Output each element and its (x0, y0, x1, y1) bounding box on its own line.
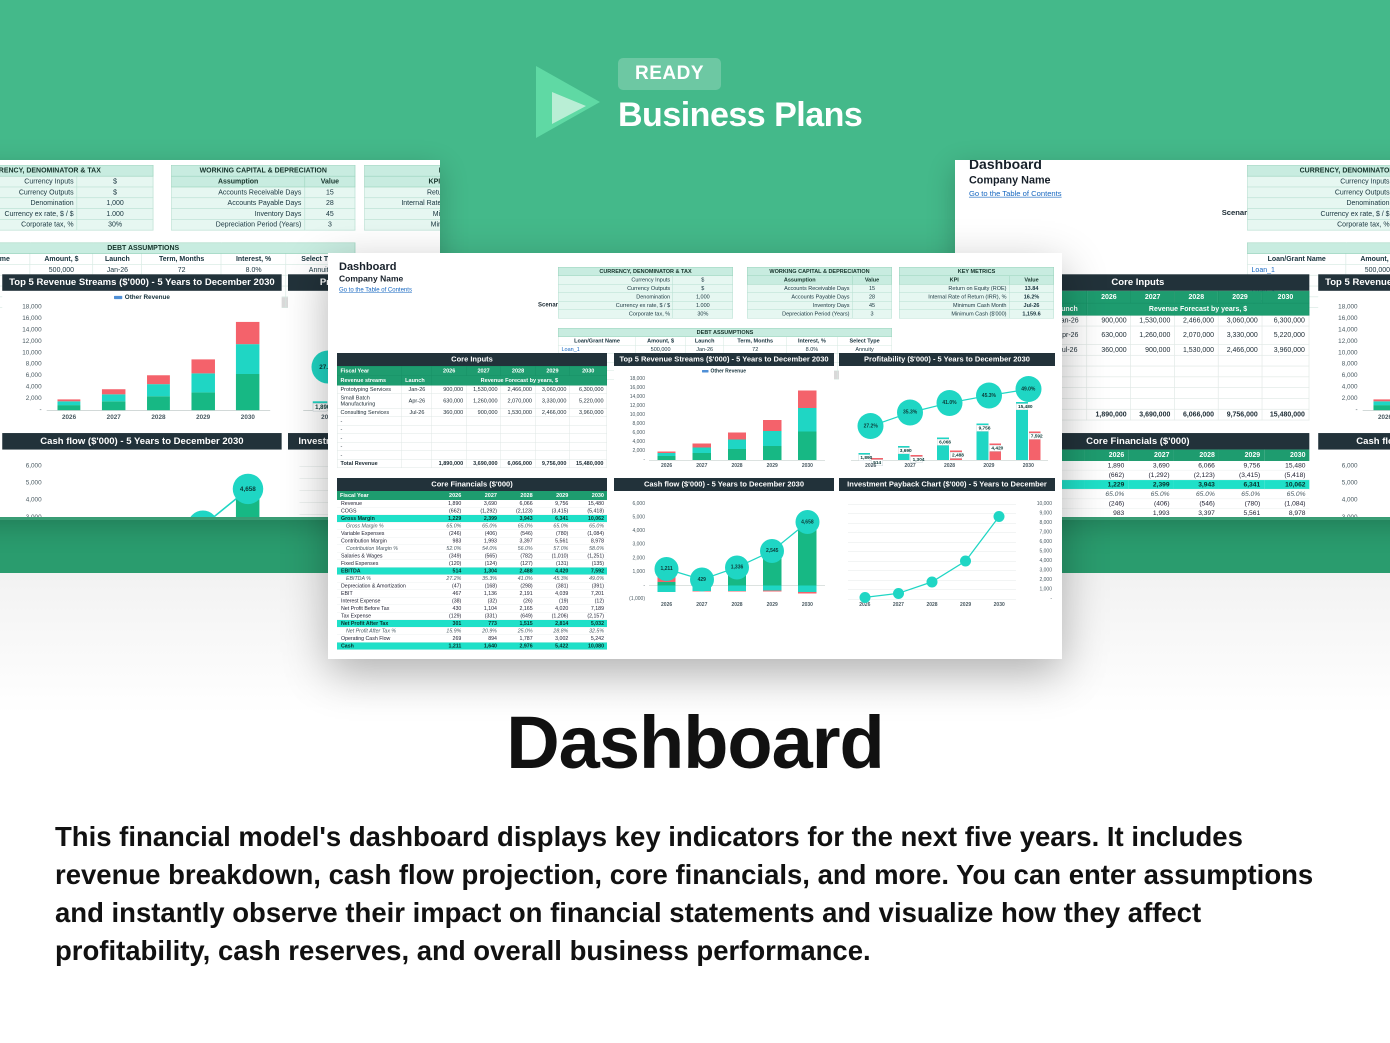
cf-value-4-0: (246) (430, 530, 464, 538)
stream-value-4-0[interactable] (1087, 366, 1131, 377)
stream-value-3-0[interactable] (432, 417, 466, 426)
debt-col-2: Launch (685, 337, 724, 346)
stream-value-5-1[interactable] (1131, 377, 1175, 388)
currency-row: Denomination 1,000 (558, 293, 733, 302)
stream-value-0-3[interactable]: 3,060,000 (535, 385, 569, 394)
stream-value-6-0[interactable] (1087, 388, 1131, 399)
stream-value-4-2[interactable] (501, 425, 535, 434)
cf-value-15-1: (331) (464, 612, 500, 620)
stream-value-5-3[interactable] (535, 434, 569, 443)
stream-value-6-2[interactable] (1174, 388, 1218, 399)
total-revenue-label: Total Revenue (337, 459, 402, 468)
currency-label-3: Currency ex rate, $ / $ (558, 301, 673, 310)
ytick-1: 16,000 (1318, 315, 1357, 322)
wc-label-3: Depreciation Period (Years) (171, 219, 304, 230)
core-inputs-year-3: 2029 (535, 366, 569, 376)
currency-label-3: Currency ex rate, $ / $ (0, 209, 77, 220)
debt-col-1: Amount, $ (636, 337, 686, 346)
stream-launch-7[interactable] (402, 451, 432, 460)
cash-flow-title: Cash flow ($'000) - 5 Years to December … (1318, 433, 1390, 450)
cf-value-8-2: (127) (500, 560, 536, 568)
key-metrics-row: Internal Rate of Return (IRR), % 16.2% (365, 198, 440, 209)
stream-value-2-2[interactable]: 1,530,000 (501, 408, 535, 417)
revenue-streams-bar-3-2 (763, 420, 781, 431)
stream-value-4-2[interactable] (1174, 366, 1218, 377)
stream-value-3-1[interactable] (1131, 355, 1175, 366)
stream-value-5-4[interactable] (570, 434, 607, 443)
stream-value-6-4[interactable] (570, 442, 607, 451)
ytick-4: 10,000 (614, 412, 645, 418)
stream-value-0-0[interactable]: 900,000 (1087, 315, 1131, 326)
ytick-8: 2,000 (614, 448, 645, 454)
ytick-9: - (2, 406, 41, 413)
debt-col-3: Term, Months (142, 254, 221, 265)
cash-flow-bar-4-2 (798, 592, 816, 594)
km-label-2: Minimum Cash Month (365, 209, 440, 220)
core-inputs-year-2: 2028 (1174, 291, 1218, 303)
cf-value-3-3: 65.0% (536, 522, 572, 530)
debt-header: DEBT ASSUMPTIONS (0, 243, 355, 254)
cf-value-19-4: 10,080 (571, 642, 607, 650)
stream-value-3-3[interactable] (535, 417, 569, 426)
revenue-streams-title: Top 5 Revenue Streams ($'000) - 5 Years … (2, 274, 281, 291)
key-metrics-row: Return on Equity (ROE) 13.84 (365, 187, 440, 198)
core-financials-section: Core Financials ($'000)Fiscal Year202620… (337, 478, 607, 650)
ytick-5: 8,000 (1318, 361, 1357, 368)
revenue-streams-bar-1-0 (693, 453, 711, 460)
currency-label-0: Currency Inputs (0, 176, 77, 187)
stream-value-5-3[interactable] (1218, 377, 1262, 388)
stream-value-3-1[interactable] (466, 417, 500, 426)
stream-value-2-3[interactable]: 2,466,000 (535, 408, 569, 417)
cf-year-2: 2028 (1173, 450, 1218, 461)
stream-value-2-4[interactable]: 3,960,000 (1262, 344, 1309, 355)
wc-label-1: Accounts Payable Days (171, 198, 304, 209)
stream-value-2-0[interactable]: 360,000 (1087, 344, 1131, 355)
revenue-streams-zero-axis (1363, 410, 1390, 411)
cf-value-5-2: 3,397 (1173, 508, 1218, 517)
currency-row: Currency ex rate, $ / $ 1.000 (0, 209, 153, 220)
stream-name-2[interactable]: Consulting Services (337, 408, 402, 417)
total-revenue-0: 1,890,000 (432, 459, 466, 468)
cf-value-0-4: 15,480 (1264, 461, 1309, 470)
cf-value-8-3: (131) (536, 560, 572, 568)
cf-label-11: Depreciation & Amortization (337, 582, 430, 590)
stream-value-4-3[interactable] (1218, 366, 1262, 377)
stream-value-0-1[interactable]: 1,530,000 (466, 385, 500, 394)
currency-value-2[interactable]: 1,000 (77, 198, 153, 209)
stream-name-4[interactable]: - (337, 425, 402, 434)
revenue-streams-title: Top 5 Revenue Streams ($'000) - 5 Years … (1318, 274, 1390, 291)
cf-value-3-3: 65.0% (1219, 489, 1264, 499)
currency-value-3[interactable]: 1.000 (77, 209, 153, 220)
total-revenue-4: 15,480,000 (1262, 409, 1309, 420)
ytick-3: 3,000 (2, 514, 41, 517)
stream-name-5[interactable]: - (337, 434, 402, 443)
core-inputs-row: Prototyping Services Jan-26900,0001,530,… (337, 385, 607, 394)
ytick-9: - (1318, 406, 1357, 413)
debt-col-3: Term, Months (724, 337, 786, 346)
wc-value-1[interactable]: 28 (852, 293, 892, 302)
stream-value-6-1[interactable] (466, 442, 500, 451)
stream-value-3-4[interactable] (570, 417, 607, 426)
stream-value-4-1[interactable] (1131, 366, 1175, 377)
cf-value-12-0: 467 (430, 590, 464, 598)
cf-value-5-3: 5,561 (536, 537, 572, 545)
revenue-streams-title: Top 5 Revenue Streams ($'000) - 5 Years … (614, 353, 834, 366)
stream-launch-6[interactable] (402, 442, 432, 451)
stream-launch-0[interactable]: Jan-26 (402, 385, 432, 394)
cf-label-12: EBIT (337, 590, 430, 598)
core-inputs-total-row: Total Revenue1,890,0003,690,0006,066,000… (337, 459, 607, 468)
stream-launch-1[interactable]: Apr-26 (402, 394, 432, 409)
revenue-streams-bar-4-1 (236, 344, 259, 374)
core-inputs-row: Consulting Services Jul-26360,000900,000… (337, 408, 607, 417)
cf-value-13-1: (32) (464, 597, 500, 605)
debt-col-5: Select Type (837, 337, 891, 346)
table-of-contents-link[interactable]: Go to the Table of Contents (969, 189, 1062, 198)
stream-value-7-3[interactable] (535, 451, 569, 460)
key-metrics-header: KEY METRICS (365, 165, 440, 176)
stream-value-0-1[interactable]: 1,530,000 (1131, 315, 1175, 326)
core-financials-row: Contribution Margin9831,9933,3975,5618,9… (337, 537, 607, 545)
cash-flow-point-3: 2,545 (188, 510, 218, 517)
ytick-4: 10,000 (2, 349, 41, 356)
wc-label-3: Depreciation Period (Years) (747, 310, 852, 319)
table-of-contents-link[interactable]: Go to the Table of Contents (339, 286, 412, 293)
cash-flow-xlabel-2: 2028 (722, 602, 752, 608)
stream-value-7-2[interactable] (1174, 398, 1218, 409)
ytick-4: 2,000 (614, 555, 645, 561)
stream-value-5-0[interactable] (432, 434, 466, 443)
core-financials-row: Contribution Margin %52.0%54.0%56.0%57.0… (337, 545, 607, 553)
stream-value-1-4[interactable]: 5,220,000 (570, 394, 607, 409)
stream-value-6-1[interactable] (1131, 388, 1175, 399)
currency-value-4[interactable]: 30% (673, 310, 733, 319)
cf-label-9: EBITDA (337, 567, 430, 575)
currency-label-0: Currency Inputs (1247, 176, 1390, 187)
cf-value-3-2: 65.0% (500, 522, 536, 530)
stream-name-1[interactable]: Small Batch Manufacturing (337, 394, 402, 409)
currency-label-1: Currency Outputs (0, 187, 77, 198)
stream-value-4-1[interactable] (466, 425, 500, 434)
page-paragraph: This financial model's dashboard display… (55, 818, 1340, 970)
revenue-streams-bar-0-0 (57, 405, 80, 410)
km-value-3: 1,159.6 (1009, 310, 1054, 319)
screenshot-card-main[interactable]: DashboardCompany NameGo to the Table of … (328, 253, 1062, 659)
profitability-point-3: 45.3% (976, 383, 1002, 409)
ytick-2: 14,000 (2, 326, 41, 333)
stream-value-2-4[interactable]: 3,960,000 (570, 408, 607, 417)
cf-value-2-0: 1,229 (430, 515, 464, 523)
revenue-streams-xlabel-2: 2028 (139, 414, 177, 421)
cf-value-7-2: (782) (500, 552, 536, 560)
stream-value-1-2[interactable]: 2,070,000 (1174, 326, 1218, 344)
cf-label-1: COGS (337, 507, 430, 515)
core-financials-table: Fiscal Year20262027202820292030 Revenue1… (337, 491, 607, 650)
stream-name-3[interactable]: - (337, 417, 402, 426)
stream-value-1-0[interactable]: 630,000 (432, 394, 466, 409)
cf-year-3: 2029 (1219, 450, 1264, 461)
revenue-streams-bar-2-1 (147, 384, 170, 396)
stream-name-6[interactable]: - (337, 442, 402, 451)
cf-value-6-1: 54.0% (464, 545, 500, 553)
stream-value-5-1[interactable] (466, 434, 500, 443)
stream-value-0-0[interactable]: 900,000 (432, 385, 466, 394)
ytick-2: 4,000 (1318, 497, 1357, 504)
stream-value-4-0[interactable] (432, 425, 466, 434)
wc-label-0: Accounts Receivable Days (171, 187, 304, 198)
stream-value-7-2[interactable] (501, 451, 535, 460)
wc-col-assumption: Assumption (171, 176, 304, 187)
cf-value-18-3: 3,002 (536, 635, 572, 643)
stream-value-7-4[interactable] (1262, 398, 1309, 409)
stream-value-2-3[interactable]: 2,466,000 (1218, 344, 1262, 355)
ytick-2: 14,000 (1318, 326, 1357, 333)
stream-value-1-4[interactable]: 5,220,000 (1262, 326, 1309, 344)
core-inputs-header: Core Inputs (337, 353, 607, 366)
core-inputs-section: Core InputsFiscal Year202620272028202920… (337, 353, 607, 468)
core-inputs-row: - (337, 425, 607, 434)
cf-value-2-3: 6,341 (1219, 480, 1264, 490)
revenue-streams-xlabel-0: 2026 (652, 463, 682, 469)
cf-value-10-2: 41.0% (500, 575, 536, 583)
currency-label-4: Corporate tax, % (0, 219, 77, 230)
cf-value-2-1: 2,399 (1128, 480, 1173, 490)
stream-value-1-1[interactable]: 1,260,000 (1131, 326, 1175, 344)
stream-value-0-3[interactable]: 3,060,000 (1218, 315, 1262, 326)
core-financials-row: Net Profit After Tax3017731,5152,8145,03… (337, 620, 607, 628)
wc-col-assumption: Assumption (747, 276, 852, 285)
cf-value-2-1: 2,399 (464, 515, 500, 523)
stream-value-1-3[interactable]: 3,330,000 (535, 394, 569, 409)
cf-value-1-4: (5,418) (571, 507, 607, 515)
stream-value-6-4[interactable] (1262, 388, 1309, 399)
core-inputs-table: Fiscal Year20262027202820292030Revenue s… (337, 366, 607, 468)
core-financials-row: Depreciation & Amortization(47)(168)(298… (337, 582, 607, 590)
wc-value-0[interactable]: 15 (852, 284, 892, 293)
debt-col-0: Loan/Grant Name (1247, 254, 1346, 265)
wc-value-1[interactable]: 28 (305, 198, 355, 209)
stream-value-3-4[interactable] (1262, 355, 1309, 366)
core-inputs-year-0: 2026 (432, 366, 466, 376)
ytick-6: 6,000 (1318, 372, 1357, 379)
stream-value-5-2[interactable] (1174, 377, 1218, 388)
stream-value-7-1[interactable] (1131, 398, 1175, 409)
stream-value-3-2[interactable] (1174, 355, 1218, 366)
currency-denominator-tax-table: CURRENCY, DENOMINATOR & TAX Currency Inp… (1247, 165, 1390, 230)
cf-value-10-1: 35.3% (464, 575, 500, 583)
legend-item-3: Other Revenue (702, 369, 746, 375)
wc-col-value: Value (852, 276, 892, 285)
cf-value-10-0: 27.2% (430, 575, 464, 583)
revenue-streams-xlabel-1: 2027 (95, 414, 133, 421)
total-revenue-2: 6,066,000 (501, 459, 535, 468)
cf-value-11-3: (381) (536, 582, 572, 590)
stream-value-1-3[interactable]: 3,330,000 (1218, 326, 1262, 344)
core-financials-row: Gross Margin %65.0%65.0%65.0%65.0%65.0% (337, 522, 607, 530)
cf-label-0: Revenue (337, 500, 430, 507)
wc-value-2[interactable]: 45 (305, 209, 355, 220)
cf-value-7-1: (565) (464, 552, 500, 560)
wc-label-2: Inventory Days (171, 209, 304, 220)
stream-launch-4[interactable] (402, 425, 432, 434)
key-metrics-row: Internal Rate of Return (IRR), % 16.2% (899, 293, 1054, 302)
total-revenue-2: 6,066,000 (1174, 409, 1218, 420)
currency-label-2: Denomination (558, 293, 673, 302)
company-name: Company Name (339, 274, 403, 284)
working-capital-row: Depreciation Period (Years) 3 (747, 310, 892, 319)
core-inputs-row: - (337, 417, 607, 426)
currency-value-0[interactable]: $ (77, 176, 153, 187)
ytick-5: 8,000 (614, 421, 645, 427)
stream-name-0[interactable]: Prototyping Services (337, 385, 402, 394)
ytick-8: 2,000 (2, 395, 41, 402)
km-col-value: Value (1009, 276, 1054, 285)
revenue-streams-bar-1-2 (693, 443, 711, 447)
ytick-5: 8,000 (2, 361, 41, 368)
stream-value-7-4[interactable] (570, 451, 607, 460)
stream-value-2-1[interactable]: 900,000 (466, 408, 500, 417)
working-capital-row: Accounts Payable Days 28 (747, 293, 892, 302)
cf-value-8-1: (124) (464, 560, 500, 568)
stream-value-7-0[interactable] (432, 451, 466, 460)
stream-value-3-2[interactable] (501, 417, 535, 426)
cf-value-5-2: 3,397 (500, 537, 536, 545)
cf-label-13: Interest Expense (337, 597, 430, 605)
cf-value-10-4: 49.0% (571, 575, 607, 583)
cf-value-0-1: 3,690 (464, 500, 500, 507)
stream-value-2-1[interactable]: 900,000 (1131, 344, 1175, 355)
currency-value-2[interactable]: 1,000 (673, 293, 733, 302)
core-financials-row: Net Profit After Tax %15.9%20.9%25.0%28.… (337, 627, 607, 635)
stream-value-3-3[interactable] (1218, 355, 1262, 366)
currency-value-1[interactable]: $ (77, 187, 153, 198)
stream-value-0-4[interactable]: 6,300,000 (570, 385, 607, 394)
stream-value-7-0[interactable] (1087, 398, 1131, 409)
currency-row: Currency Outputs $ (558, 284, 733, 293)
revenue-streams-xlabel-4: 2030 (792, 463, 822, 469)
wc-value-3[interactable]: 3 (852, 310, 892, 319)
cf-value-0-2: 6,066 (1173, 461, 1218, 470)
stream-value-3-0[interactable] (1087, 355, 1131, 366)
cf-value-1-3: (3,415) (1219, 470, 1264, 480)
stream-value-1-2[interactable]: 2,070,000 (501, 394, 535, 409)
cf-value-5-3: 5,561 (1219, 508, 1264, 517)
revenue-streams-xlabel-4: 2030 (229, 414, 267, 421)
ytick-4: 10,000 (1318, 349, 1357, 356)
revenue-streams-bar-3-2 (192, 360, 215, 374)
cf-value-6-4: 58.0% (571, 545, 607, 553)
cf-value-1-2: (2,123) (500, 507, 536, 515)
play-triangle-icon (530, 62, 606, 142)
stream-value-4-3[interactable] (535, 425, 569, 434)
stream-launch-2[interactable]: Jul-26 (402, 408, 432, 417)
cf-value-17-2: 25.0% (500, 627, 536, 635)
cash-flow-point-3: 2,545 (760, 539, 784, 563)
stream-value-1-0[interactable]: 630,000 (1087, 326, 1131, 344)
cf-value-9-2: 2,488 (500, 567, 536, 575)
stream-value-5-4[interactable] (1262, 377, 1309, 388)
currency-row: Corporate tax, % 30% (1247, 219, 1390, 230)
cf-value-6-2: 56.0% (500, 545, 536, 553)
currency-value-1[interactable]: $ (673, 284, 733, 293)
stream-value-2-0[interactable]: 360,000 (432, 408, 466, 417)
working-capital-row: Accounts Receivable Days 15 (747, 284, 892, 293)
cf-value-0-3: 9,756 (536, 500, 572, 507)
stream-value-7-1[interactable] (466, 451, 500, 460)
cash-flow-title: Cash flow ($'000) - 5 Years to December … (614, 478, 834, 491)
cash-flow-point-1: 429 (690, 568, 714, 592)
stream-value-2-2[interactable]: 1,530,000 (1174, 344, 1218, 355)
cf-value-5-1: 1,993 (1128, 508, 1173, 517)
stream-value-5-2[interactable] (501, 434, 535, 443)
working-capital-table: WORKING CAPITAL & DEPRECIATION Assumptio… (171, 165, 355, 230)
cf-value-3-2: 65.0% (1173, 489, 1218, 499)
stream-value-6-2[interactable] (501, 442, 535, 451)
cf-label-5: Contribution Margin (337, 537, 430, 545)
stream-value-0-2[interactable]: 2,466,000 (501, 385, 535, 394)
brand-name: Business Plans (618, 96, 862, 135)
stream-value-6-3[interactable] (1218, 388, 1262, 399)
cf-label-3: Gross Margin % (337, 522, 430, 530)
core-inputs-year-3: 2029 (1218, 291, 1262, 303)
debt-col-1: Amount, $ (1346, 254, 1390, 265)
stream-value-5-0[interactable] (1087, 377, 1131, 388)
revenue-streams-bar-4-0 (236, 374, 259, 410)
cf-value-2-4: 10,062 (1264, 480, 1309, 490)
currency-row: Currency ex rate, $ / $ 1.000 (1247, 209, 1390, 220)
stream-name-7[interactable]: - (337, 451, 402, 460)
stream-value-7-3[interactable] (1218, 398, 1262, 409)
currency-value-4[interactable]: 30% (77, 219, 153, 230)
revenue-streams-bar-2-2 (728, 433, 746, 440)
stream-value-0-2[interactable]: 2,466,000 (1174, 315, 1218, 326)
stream-launch-3[interactable] (402, 417, 432, 426)
investment-payback-point-1 (893, 588, 904, 599)
cf-label-10: EBITDA % (337, 575, 430, 583)
km-label-3: Minimum Cash ($'000) (899, 310, 1009, 319)
stream-value-1-1[interactable]: 1,260,000 (466, 394, 500, 409)
debt-header: DEBT ASSUMPTIONS (1247, 243, 1390, 254)
cf-value-15-2: (649) (500, 612, 536, 620)
ytick-3: 12,000 (614, 403, 645, 409)
cf-value-0-0: 1,890 (1084, 461, 1128, 470)
currency-value-0[interactable]: $ (673, 276, 733, 285)
wc-value-0[interactable]: 15 (305, 187, 355, 198)
ytick-0: 6,000 (2, 462, 41, 469)
ready-badge: READY (618, 58, 721, 90)
cf-value-6-3: 57.0% (536, 545, 572, 553)
cf-value-5-0: 983 (1084, 508, 1128, 517)
revenue-streams-chart: Top 5 Revenue Streams ($'000) - 5 Years … (1318, 274, 1390, 426)
ytick-1: 16,000 (2, 315, 41, 322)
wc-value-3[interactable]: 3 (305, 219, 355, 230)
cf-value-5-0: 983 (430, 537, 464, 545)
stream-value-0-4[interactable]: 6,300,000 (1262, 315, 1309, 326)
stream-launch-5[interactable] (402, 434, 432, 443)
currency-value-3[interactable]: 1.000 (673, 301, 733, 310)
revenue-streams-bar-1-1 (102, 394, 125, 401)
cf-value-1-3: (3,415) (536, 507, 572, 515)
stream-value-4-4[interactable] (1262, 366, 1309, 377)
cf-value-11-1: (168) (464, 582, 500, 590)
wc-value-2[interactable]: 45 (852, 301, 892, 310)
stream-value-4-4[interactable] (570, 425, 607, 434)
stream-value-6-0[interactable] (432, 442, 466, 451)
currency-denominator-tax-table: CURRENCY, DENOMINATOR & TAX Currency Inp… (558, 267, 733, 319)
stream-value-6-3[interactable] (535, 442, 569, 451)
